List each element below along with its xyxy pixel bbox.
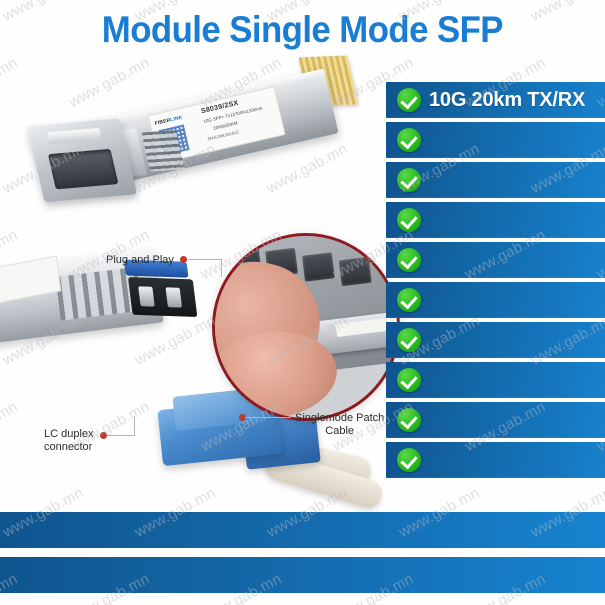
footer-bar-upper — [0, 512, 605, 548]
sfp-port-cage — [27, 118, 137, 202]
feature-row[interactable] — [386, 402, 605, 438]
feature-list: 10G 20km TX/RX — [386, 82, 605, 482]
check-circle-icon — [397, 288, 421, 312]
check-circle-icon — [397, 448, 421, 472]
feature-row[interactable] — [386, 202, 605, 238]
watermark-text: www.gab.mn — [0, 54, 20, 111]
callout-singlemode-patch-cable: Singlemode Patch Cable — [295, 412, 384, 438]
check-circle-icon — [397, 368, 421, 392]
callout-leader-line — [188, 259, 222, 260]
check-circle-icon — [397, 128, 421, 152]
switch-port — [302, 252, 335, 281]
sfp-cage-slot — [48, 149, 118, 190]
watermark-text: www.gab.mn — [0, 398, 20, 455]
callout-leader-line — [134, 416, 135, 436]
callout-plug-and-play: Plug and Play — [106, 254, 174, 267]
infographic-canvas: Module Single Mode SFP FIBERLINK S8039/2… — [0, 0, 605, 605]
feature-row[interactable] — [386, 442, 605, 478]
feature-row[interactable] — [386, 242, 605, 278]
feature-row[interactable] — [386, 322, 605, 358]
page-title-wrap: Module Single Mode SFP — [0, 8, 605, 52]
check-circle-icon — [397, 328, 421, 352]
callout-dot-icon — [100, 432, 107, 439]
callout-lc-duplex: LC duplex connector — [44, 428, 94, 454]
callout-patch-cable-line1: Singlemode Patch — [295, 412, 384, 425]
feature-row[interactable] — [386, 122, 605, 158]
feature-row[interactable]: 10G 20km TX/RX — [386, 82, 605, 118]
feature-row[interactable] — [386, 282, 605, 318]
check-circle-icon — [397, 248, 421, 272]
switch-port — [339, 257, 372, 286]
sfp-installation-photo — [212, 233, 400, 421]
sfp-cage-tab — [47, 128, 102, 144]
check-circle-icon — [397, 88, 421, 112]
footer-bar-lower — [0, 557, 605, 593]
lc-ferrule-housing — [128, 277, 197, 317]
check-circle-icon — [397, 408, 421, 432]
page-title: Module Single Mode SFP — [102, 8, 503, 52]
callout-lc-duplex-line2: connector — [44, 441, 94, 454]
feature-row[interactable] — [386, 362, 605, 398]
callout-plug-and-play-label: Plug and Play — [106, 254, 174, 267]
callout-leader-line — [221, 259, 222, 277]
callout-leader-line — [107, 435, 135, 436]
callout-patch-cable-line2: Cable — [295, 425, 384, 438]
check-circle-icon — [397, 168, 421, 192]
check-circle-icon — [397, 208, 421, 232]
callout-leader-line — [245, 417, 291, 418]
feature-label: 10G 20km TX/RX — [429, 89, 585, 112]
feature-row[interactable] — [386, 162, 605, 198]
callout-lc-duplex-line1: LC duplex — [44, 428, 94, 441]
sfp-left-label: xelo — [0, 255, 61, 309]
callout-dot-icon — [180, 256, 187, 263]
sfp-label-serial: SN:E230L00191C — [207, 129, 240, 141]
sfp-module-top-image: FIBERLINK S8039/2SX 10G SFP+ Tx1270/Rx13… — [15, 37, 370, 257]
